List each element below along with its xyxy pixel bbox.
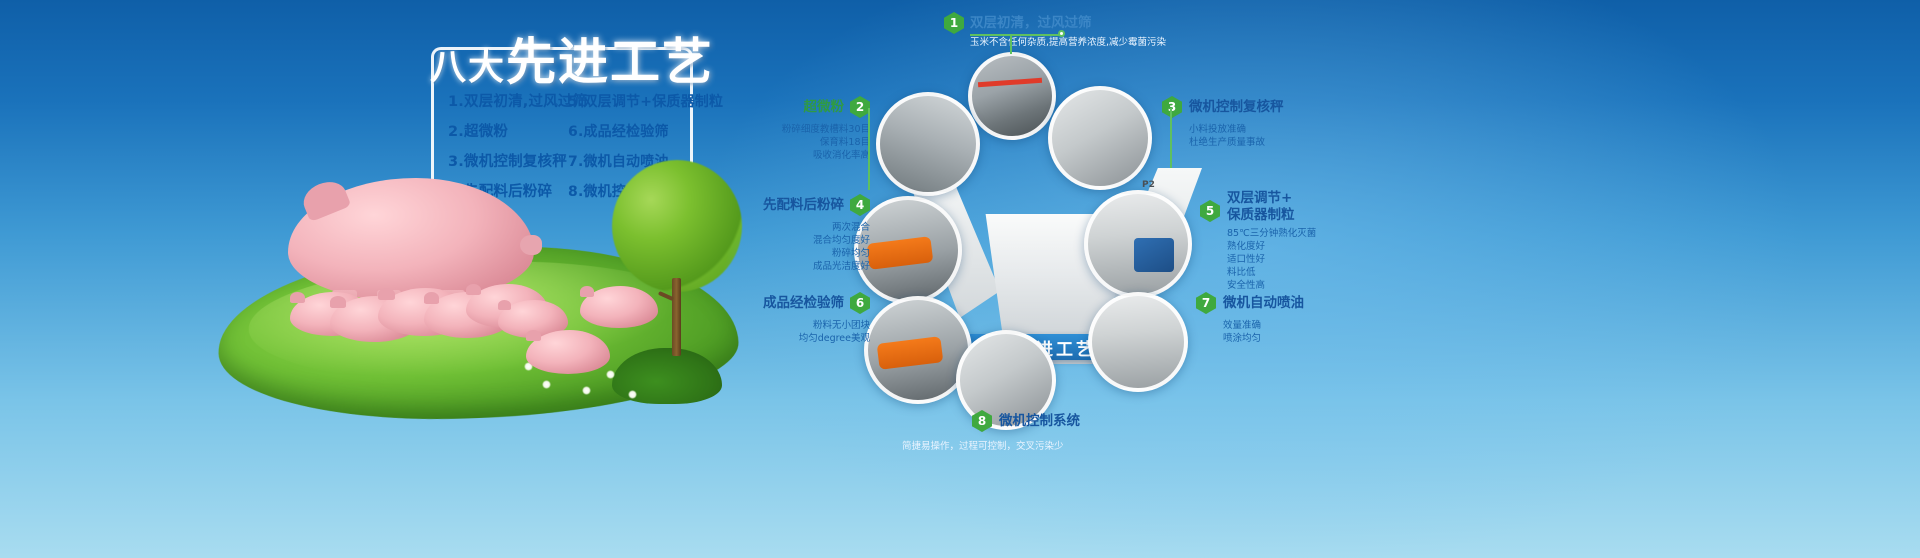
pig-ear [466,284,481,295]
process-infographic: P3 P2 先进工艺 1 双层初清，过风过筛 玉米不含任何杂质,提高营养浓度,减… [760,0,1920,558]
callout-5-title: 双层调节+ [1227,190,1295,207]
pig-ear [298,176,351,222]
callout-3-badge: 3 [1162,96,1182,118]
callout-4-sub-2: 混合均匀度好 [740,234,870,247]
callout-2-leader [868,108,870,190]
callout-2-title: 超微粉 [804,99,845,116]
callout-8-sub-1: 简捷易操作，过程可控制，交叉污染少 [902,440,1252,453]
callout-7-badge: 7 [1196,292,1216,314]
dandelion [628,390,637,399]
callout-4-sub-4: 成品光洁度好 [740,260,870,273]
headline-main: 先进工艺 [506,33,714,91]
callout-8-title: 微机控制系统 [999,413,1080,430]
feature-item-2: 2.超微粉 [448,122,566,142]
process-photo-7 [1088,292,1188,392]
pig-ear [378,288,395,300]
process-photo-4 [854,196,962,304]
callout-7-sub-2: 喷涂均匀 [1223,332,1376,345]
page-title: 八大先进工艺 [430,22,714,94]
process-photo-1 [968,52,1056,140]
callout-5[interactable]: 5 双层调节+ 保质器制粒 85℃三分钟熟化灭菌 熟化度好 适口性好 料比低 安… [1200,190,1400,292]
pig-ear [330,296,346,308]
pig-ear [526,330,541,341]
callout-1-leader [970,34,1062,36]
dandelion [606,370,615,379]
callout-5-sub-4: 料比低 [1227,266,1400,279]
feature-item-5: 5.双层调节+保质器制粒 [568,92,708,112]
feature-item-1: 1.双层初清,过风过筛 [448,92,566,112]
callout-1-badge: 1 [944,12,964,34]
callout-3-leader [1170,108,1172,168]
callout-8[interactable]: 8 微机控制系统 简捷易操作，过程可控制，交叉污染少 [972,410,1252,453]
callout-6-badge: 6 [850,292,870,314]
callout-1-leader-dot [1058,30,1065,37]
callout-5-badge: 5 [1200,200,1220,222]
left-banner: 八大先进工艺 1.双层初清,过风过筛 5.双层调节+保质器制粒 2.超微粉 6.… [0,0,760,558]
process-photo-3 [1048,86,1152,190]
piglet [580,286,658,328]
dandelion [582,386,591,395]
callout-4-title: 先配料后粉碎 [763,197,844,214]
dandelion [542,380,551,389]
callout-6[interactable]: 成品经检验筛 6 粉料无小团块 均匀degree美观 [740,292,870,345]
callout-4-sub-1: 两次混合 [740,221,870,234]
callout-7-title: 微机自动喷油 [1223,295,1304,312]
callout-3-sub-2: 杜绝生产质量事故 [1189,136,1342,149]
callout-8-badge: 8 [972,410,992,432]
callout-2[interactable]: 超微粉 2 粉碎细度教槽料30目 保育料18目 吸收消化率高 [750,96,870,162]
callout-2-sub-1: 粉碎细度教槽料30目 [750,123,870,136]
pig-ear [580,286,594,297]
callout-1-leader-v [1010,36,1012,54]
callout-3-title: 微机控制复核秤 [1189,99,1284,116]
callout-5-sub-3: 适口性好 [1227,253,1400,266]
callout-5-title-2: 保质器制粒 [1227,207,1295,224]
callout-7-sub-1: 效量准确 [1223,319,1376,332]
callout-4-sub-3: 粉碎均匀 [740,247,870,260]
callout-4-badge: 4 [850,194,870,216]
piglet [526,330,610,374]
callout-2-sub-2: 保育料18目 [750,136,870,149]
feature-item-3: 3.微机控制复核秤 [448,152,566,172]
callout-3[interactable]: 3 微机控制复核秤 小料投放准确 杜绝生产质量事故 [1162,96,1342,149]
tree [612,160,742,360]
tree-trunk [672,278,681,356]
callout-5-sub-1: 85℃三分钟熟化灭菌 [1227,227,1400,240]
callout-1-title: 双层初清，过风过筛 [970,15,1204,32]
pig-ear [290,292,305,303]
callout-6-sub-2: 均匀degree美观 [740,332,870,345]
pig-ear [424,292,439,304]
pig-ear [498,300,511,310]
callout-1-sub-1: 玉米不含任何杂质,提高营养浓度,减少霉菌污染 [970,36,1204,49]
callout-6-sub-1: 粉料无小团块 [740,319,870,332]
process-photo-2 [876,92,980,196]
callout-4[interactable]: 先配料后粉碎 4 两次混合 混合均匀度好 粉碎均匀 成品光洁度好 [740,194,870,273]
callout-5-sub-2: 熟化度好 [1227,240,1400,253]
callout-6-title: 成品经检验筛 [763,295,844,312]
callout-2-sub-3: 吸收消化率高 [750,149,870,162]
callout-1[interactable]: 1 双层初清，过风过筛 玉米不含任何杂质,提高营养浓度,减少霉菌污染 [944,12,1204,49]
callout-7[interactable]: 7 微机自动喷油 效量准确 喷涂均匀 [1196,292,1376,345]
callout-5-sub-5: 安全性高 [1227,279,1400,292]
headline-prefix: 八大 [430,47,506,88]
callout-3-sub-1: 小料投放准确 [1189,123,1342,136]
callout-2-badge: 2 [850,96,870,118]
tree-canopy [612,160,742,292]
feature-item-6: 6.成品经检验筛 [568,122,708,142]
process-photo-5 [1084,190,1192,298]
